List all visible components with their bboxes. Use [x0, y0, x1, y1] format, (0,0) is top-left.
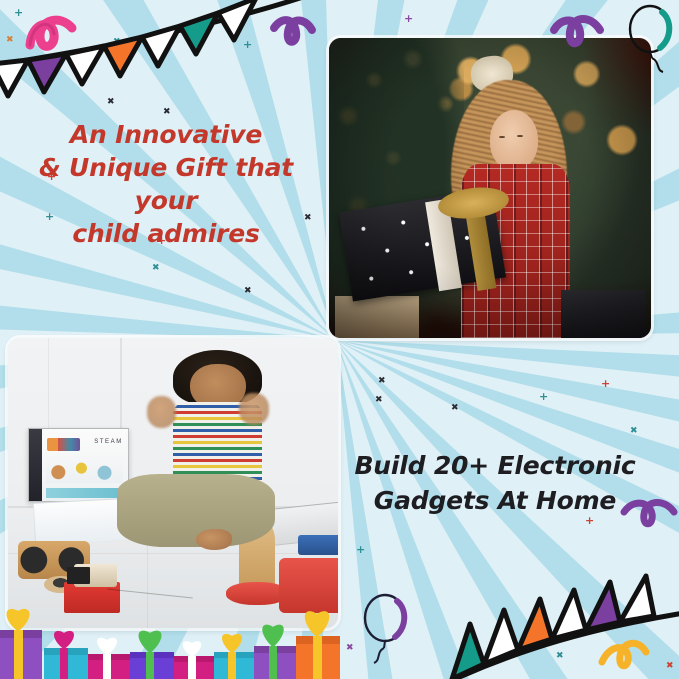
photo-boy-with-steam-kit: STEAM	[8, 338, 338, 628]
headline-top-line-3: child admires	[10, 217, 322, 250]
photo-girl-opening-christmas-gift	[329, 38, 651, 338]
kit-box-logo	[47, 438, 81, 451]
headline-bottom: Build 20+ Electronic Gadgets At Home	[345, 448, 645, 518]
headline-top-line-2: & Unique Gift that your	[10, 151, 322, 217]
gadget-blue-part	[298, 535, 338, 555]
steam-kit-box: STEAM	[28, 428, 129, 503]
christmas-scene	[329, 38, 651, 338]
photo-vignette	[329, 38, 651, 338]
headline-bottom-line-2: Gadgets At Home	[345, 483, 645, 518]
gadget-red-panel	[279, 558, 338, 613]
headline-top-line-1: An Innovative	[10, 118, 322, 151]
kit-box-info-strip	[46, 488, 123, 498]
kit-room-scene: STEAM	[8, 338, 338, 628]
boy-foot	[196, 529, 232, 549]
headline-top: An Innovative & Unique Gift that your ch…	[10, 118, 322, 250]
boy-hand-left	[147, 396, 177, 428]
kit-box-steam-label: STEAM	[94, 439, 123, 445]
headline-bottom-line-1: Build 20+ Electronic	[345, 448, 645, 483]
marketing-image-canvas: ✖✖+++✖✖++✖+✖✖✖✖✖++✖++✖✖✖+	[0, 0, 679, 679]
kit-box-spine	[29, 429, 42, 502]
boy-hand-right	[239, 393, 269, 425]
gadget-battery-box	[67, 567, 90, 584]
kit-box-artwork	[46, 456, 123, 482]
